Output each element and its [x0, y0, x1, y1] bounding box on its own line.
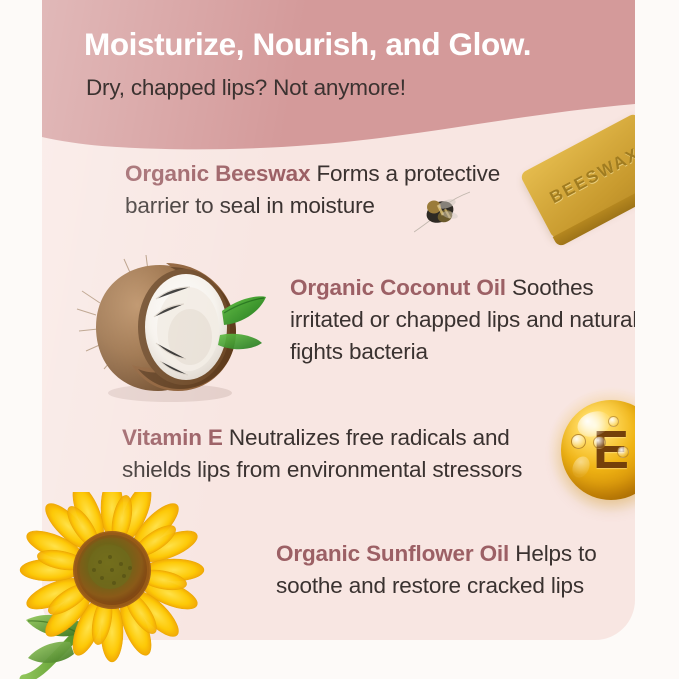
ingredient-coconut-name: Organic Coconut Oil [290, 275, 506, 300]
coconut-image [74, 251, 266, 403]
sunflower-image [8, 492, 216, 679]
ingredient-vitamin-e-name: Vitamin E [122, 425, 223, 450]
capsule-bubble-4 [617, 446, 629, 458]
ingredient-sunflower-name: Organic Sunflower Oil [276, 541, 509, 566]
ingredient-sunflower: Organic Sunflower Oil Helps to soothe an… [276, 538, 635, 602]
infographic-canvas: BEESWAX Organic Beeswax Forms a protecti… [0, 0, 679, 679]
ingredient-beeswax: Organic Beeswax Forms a protective barri… [125, 158, 555, 222]
ingredient-coconut: Organic Coconut Oil Soothes irritated or… [290, 272, 635, 368]
capsule-bubble-2 [593, 436, 606, 449]
capsule-bubble-1 [571, 434, 586, 449]
ingredient-beeswax-name: Organic Beeswax [125, 161, 310, 186]
capsule-bubble-3 [608, 416, 619, 427]
ingredient-vitamin-e: Vitamin E Neutralizes free radicals and … [122, 422, 572, 486]
